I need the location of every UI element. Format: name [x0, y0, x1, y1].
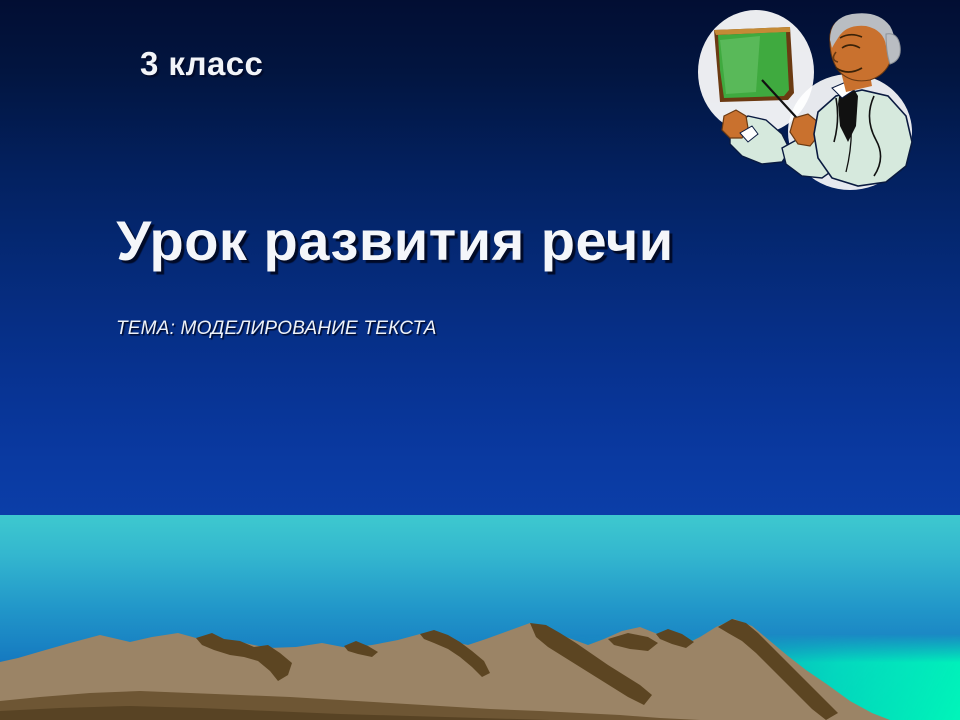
slide-main-title: Урок развития речи: [0, 208, 790, 273]
presentation-slide: 3 класс Урок развития речи ТЕМА: МОДЕЛИР…: [0, 0, 960, 720]
chalkboard-surface-shade: [720, 36, 760, 94]
teacher-at-chalkboard-illustration: [690, 0, 960, 205]
slide-subtitle-theme: ТЕМА: МОДЕЛИРОВАНИЕ ТЕКСТА: [116, 318, 437, 340]
mountain-range-silhouette: [0, 515, 960, 720]
grade-label: 3 класс: [140, 45, 263, 83]
